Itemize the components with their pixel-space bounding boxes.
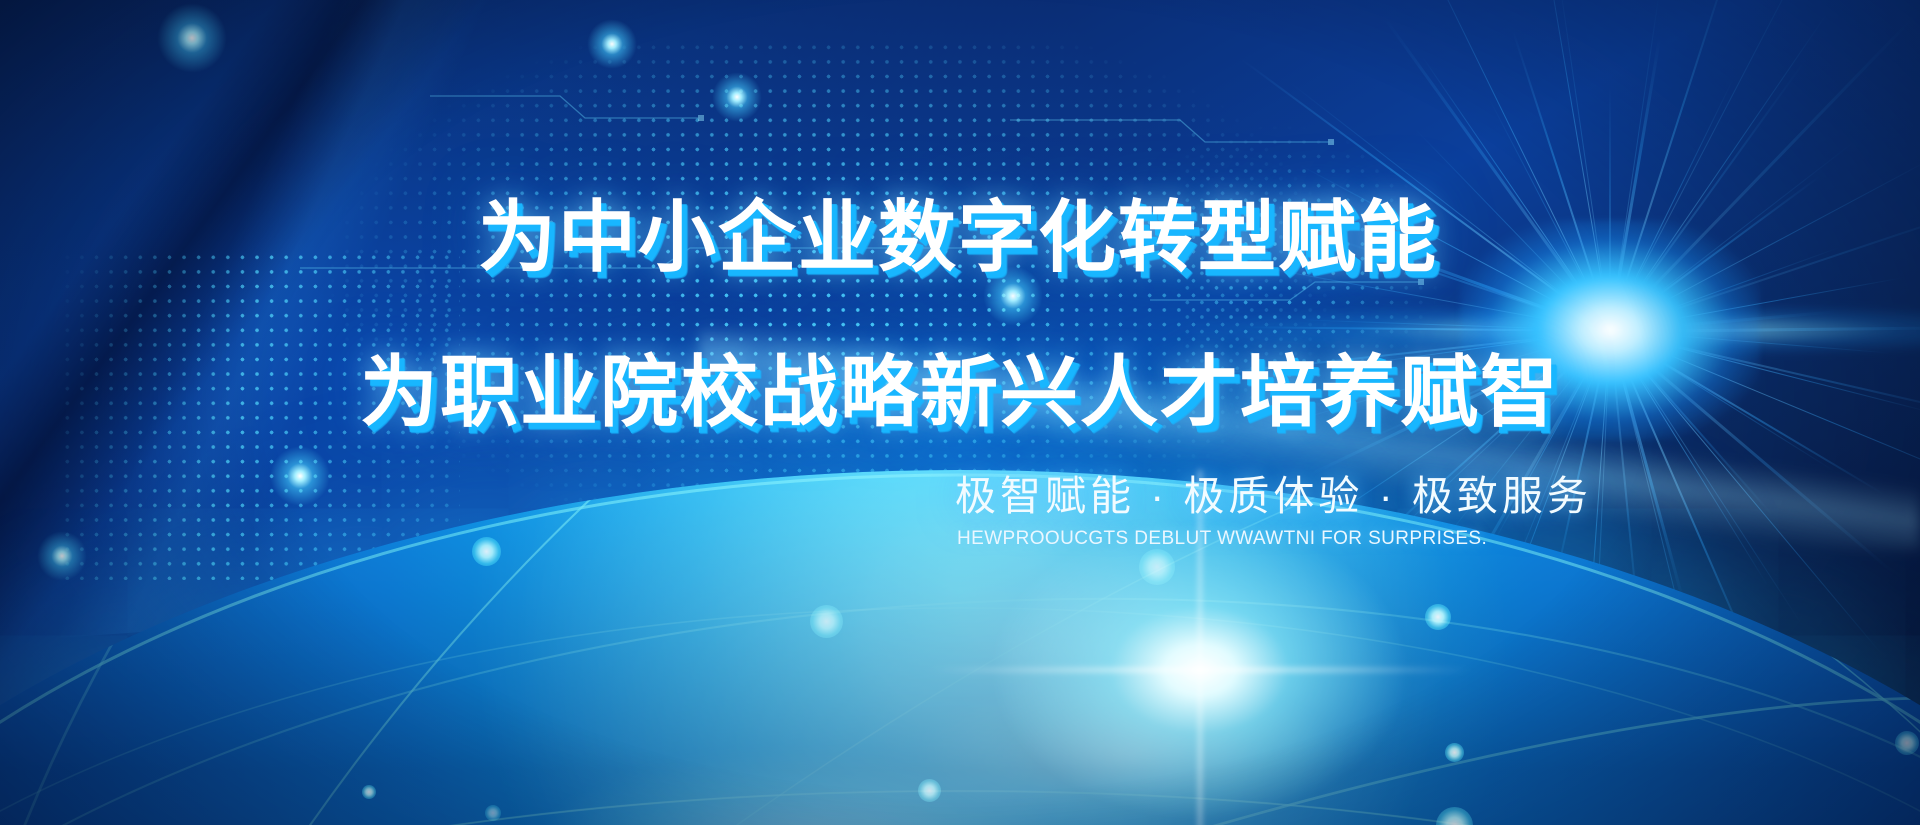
spark-mid [712, 72, 762, 122]
english-subline: HEWPROOUCGTS DEBLUT WWAWTNI FOR SURPRISE… [957, 528, 1487, 550]
globe-landmass-2 [920, 680, 1340, 825]
tagline: 极智赋能 · 极质体验 · 极致服务 [955, 462, 1592, 522]
burst-ray [1610, 247, 1839, 331]
globe-landmass-1 [540, 750, 1060, 825]
burst-ray [1609, 330, 1774, 517]
network-globe [0, 470, 1920, 825]
globe-node [362, 785, 376, 799]
globe-node [1436, 807, 1473, 825]
burst-ray [1610, 330, 1835, 472]
globe-node [918, 779, 941, 802]
spark-left-low [270, 446, 330, 506]
globe-node [1445, 743, 1464, 762]
burst-ray [1539, 0, 1610, 331]
burst-ray [1609, 330, 1893, 573]
burst-ray [1609, 331, 1686, 604]
burst-ray [1610, 326, 1920, 333]
burst-ray [1610, 157, 1920, 331]
burst-ray [1557, 0, 1611, 331]
headline-line-1: 为中小企业数字化转型赋能 [478, 175, 1438, 287]
burst-ray [1609, 0, 1821, 331]
burst-ray [1609, 0, 1735, 331]
globe-node [485, 805, 501, 821]
spark-top-left [157, 3, 227, 73]
hero-banner: 为中小企业数字化转型赋能 为职业院校战略新兴人才培养赋智 极智赋能 · 极质体验… [0, 0, 1920, 825]
globe-node [1425, 604, 1451, 630]
burst-ray [1416, 0, 1610, 331]
burst-ray [1609, 0, 1661, 331]
burst-ray [1610, 330, 1920, 419]
globe-network-arcs [0, 470, 1920, 825]
burst-ray [1415, 129, 1610, 331]
burst-ray [1609, 80, 1733, 331]
burst-ray [1609, 61, 1805, 331]
burst-ray [1609, 330, 1768, 586]
burst-ray [1421, 55, 1610, 330]
burst-ray [1610, 330, 1920, 500]
burst-ray [1610, 310, 1839, 333]
burst-ray [1609, 15, 1915, 332]
spark-left-edge [37, 531, 87, 581]
burst-ray [1553, 331, 1611, 589]
burst-ray [1610, 278, 1902, 332]
burst-ray [1488, 98, 1610, 331]
burst-ray [1512, 31, 1611, 331]
globe-shading [0, 470, 1920, 825]
globe-node [1895, 731, 1919, 755]
burst-ray [1610, 330, 1892, 354]
globe-node [1139, 549, 1175, 585]
globe-node [472, 537, 501, 566]
spark-upper-mid [587, 19, 637, 69]
burst-ray [1610, 138, 1859, 331]
burst-ray [1610, 330, 1920, 414]
burst-ray [1609, 87, 1611, 331]
headline-line-2: 为职业院校战略新兴人才培养赋智 [360, 330, 1560, 442]
globe-node [810, 605, 843, 638]
burst-ray [1609, 330, 1883, 495]
burst-ray [1610, 197, 1920, 332]
burst-ray [1609, 38, 1661, 331]
burst-ray [1609, 175, 1820, 331]
burst-ray [1610, 13, 1828, 331]
